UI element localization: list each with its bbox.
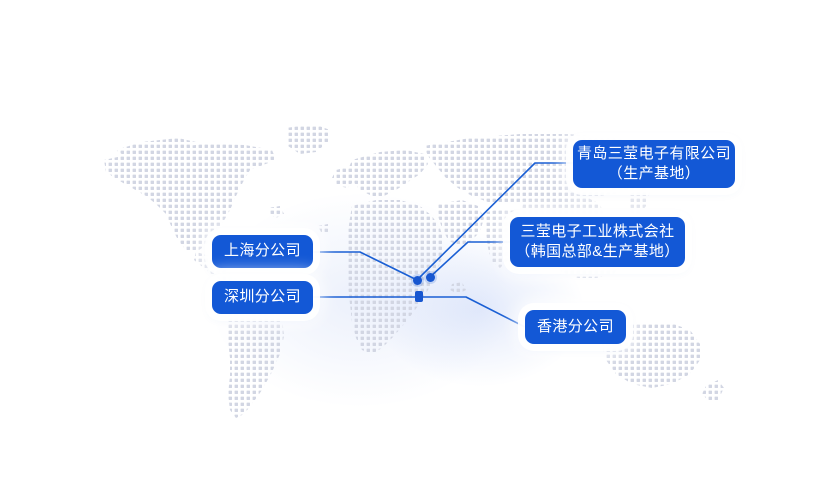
label-hongkong[interactable]: 香港分公司 — [525, 310, 626, 344]
korea-marker[interactable] — [426, 273, 435, 282]
world-map — [0, 0, 824, 480]
label-korea-line1: 三莹电子工业株式会社 — [520, 222, 674, 242]
label-shanghai[interactable]: 上海分公司 — [212, 235, 313, 268]
shenzhen-hongkong-marker[interactable] — [415, 291, 423, 302]
label-korea-line2: （韩国总部&生产基地） — [515, 242, 679, 262]
world-map-infographic: 青岛三莹电子有限公司 （生产基地） 三莹电子工业株式会社 （韩国总部&生产基地）… — [0, 0, 824, 480]
label-qingdao[interactable]: 青岛三莹电子有限公司 （生产基地） — [573, 140, 735, 188]
label-hongkong-line1: 香港分公司 — [537, 317, 614, 337]
label-qingdao-line2: （生产基地） — [608, 164, 700, 184]
label-shenzhen[interactable]: 深圳分公司 — [212, 281, 313, 314]
label-shenzhen-line1: 深圳分公司 — [224, 287, 301, 307]
qingdao-marker[interactable] — [413, 276, 422, 285]
label-qingdao-line1: 青岛三莹电子有限公司 — [577, 144, 731, 164]
label-shanghai-line1: 上海分公司 — [224, 241, 301, 261]
label-korea[interactable]: 三莹电子工业株式会社 （韩国总部&生产基地） — [510, 217, 685, 267]
